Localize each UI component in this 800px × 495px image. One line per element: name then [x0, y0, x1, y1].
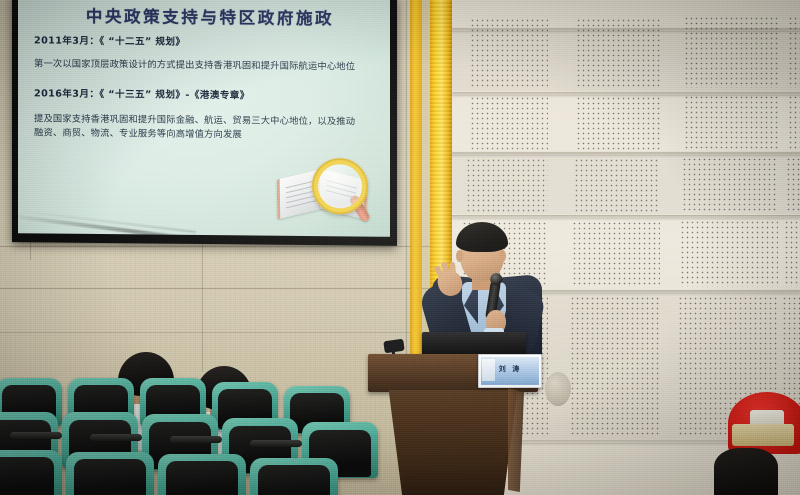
perforation-block	[574, 158, 660, 212]
perforation-block	[466, 158, 548, 212]
seat-armrest	[250, 440, 302, 447]
wall-seam	[0, 246, 452, 247]
perforation-block	[788, 95, 800, 150]
projection-screen-frame: 中央政策支持与特区政府施政 2011年3月：《 “十二五” 规划》 第一次以国家…	[12, 0, 397, 246]
seat	[158, 454, 246, 495]
podium-side-panel	[508, 388, 524, 492]
perforation-block	[576, 18, 660, 88]
perforation-block	[784, 220, 800, 287]
slide-heading-2016: 2016年3月：《 “十三五” 规划》-《港澳专章》	[34, 85, 378, 102]
ear-right	[499, 250, 506, 262]
ear-left	[456, 250, 463, 262]
seat	[66, 452, 154, 495]
projection-screen-surface: 中央政策支持与特区政府施政 2011年3月：《 “十二五” 规划》 第一次以国家…	[18, 0, 390, 237]
perforation-block	[572, 221, 660, 287]
wall-mounted-speaker	[545, 372, 571, 406]
auditorium-seating	[0, 372, 410, 495]
gooseneck-microphone-icon	[383, 339, 404, 354]
slide-body-2011: 第一次以国家顶层政策设计的方式提出支持香港巩固和提升国际航运中心地位	[34, 57, 364, 74]
perforation-block	[682, 157, 778, 212]
speaker-name-card: 刘 涛	[478, 354, 542, 388]
hair	[456, 222, 508, 252]
perforation-block	[470, 96, 548, 150]
wall-seam	[0, 288, 452, 289]
seat-armrest	[90, 434, 142, 441]
red-object-base	[732, 424, 794, 446]
lecture-hall-photograph: 中央政策支持与特区政府施政 2011年3月：《 “十二五” 规划》 第一次以国家…	[0, 0, 800, 495]
seat	[0, 450, 62, 495]
seat	[250, 458, 338, 495]
perforation-block	[470, 18, 548, 88]
perforation-block	[680, 220, 778, 287]
perforation-block	[684, 95, 778, 150]
foreground-person-silhouette	[714, 448, 778, 495]
wall-seam-vertical	[406, 0, 407, 372]
perforation-block	[570, 296, 660, 436]
slide-heading-2011: 2011年3月：《 “十二五” 规划》	[34, 32, 378, 49]
book-magnifier-icon	[276, 156, 368, 219]
perforation-block	[788, 16, 800, 88]
perforation-block	[684, 16, 778, 88]
perforation-block	[786, 157, 800, 212]
slide-body-2016: 提及国家支持香港巩固和提升国际金融、航运、贸易三大中心地位，以及推动融资、商贸、…	[34, 112, 364, 143]
magnifier-lens-icon	[312, 158, 368, 215]
name-card-text: 刘 涛	[479, 364, 541, 374]
perforation-block	[576, 96, 660, 150]
seat-armrest	[10, 432, 62, 439]
slide-title: 中央政策支持与特区政府施政	[42, 2, 378, 29]
seat-armrest	[170, 436, 222, 443]
